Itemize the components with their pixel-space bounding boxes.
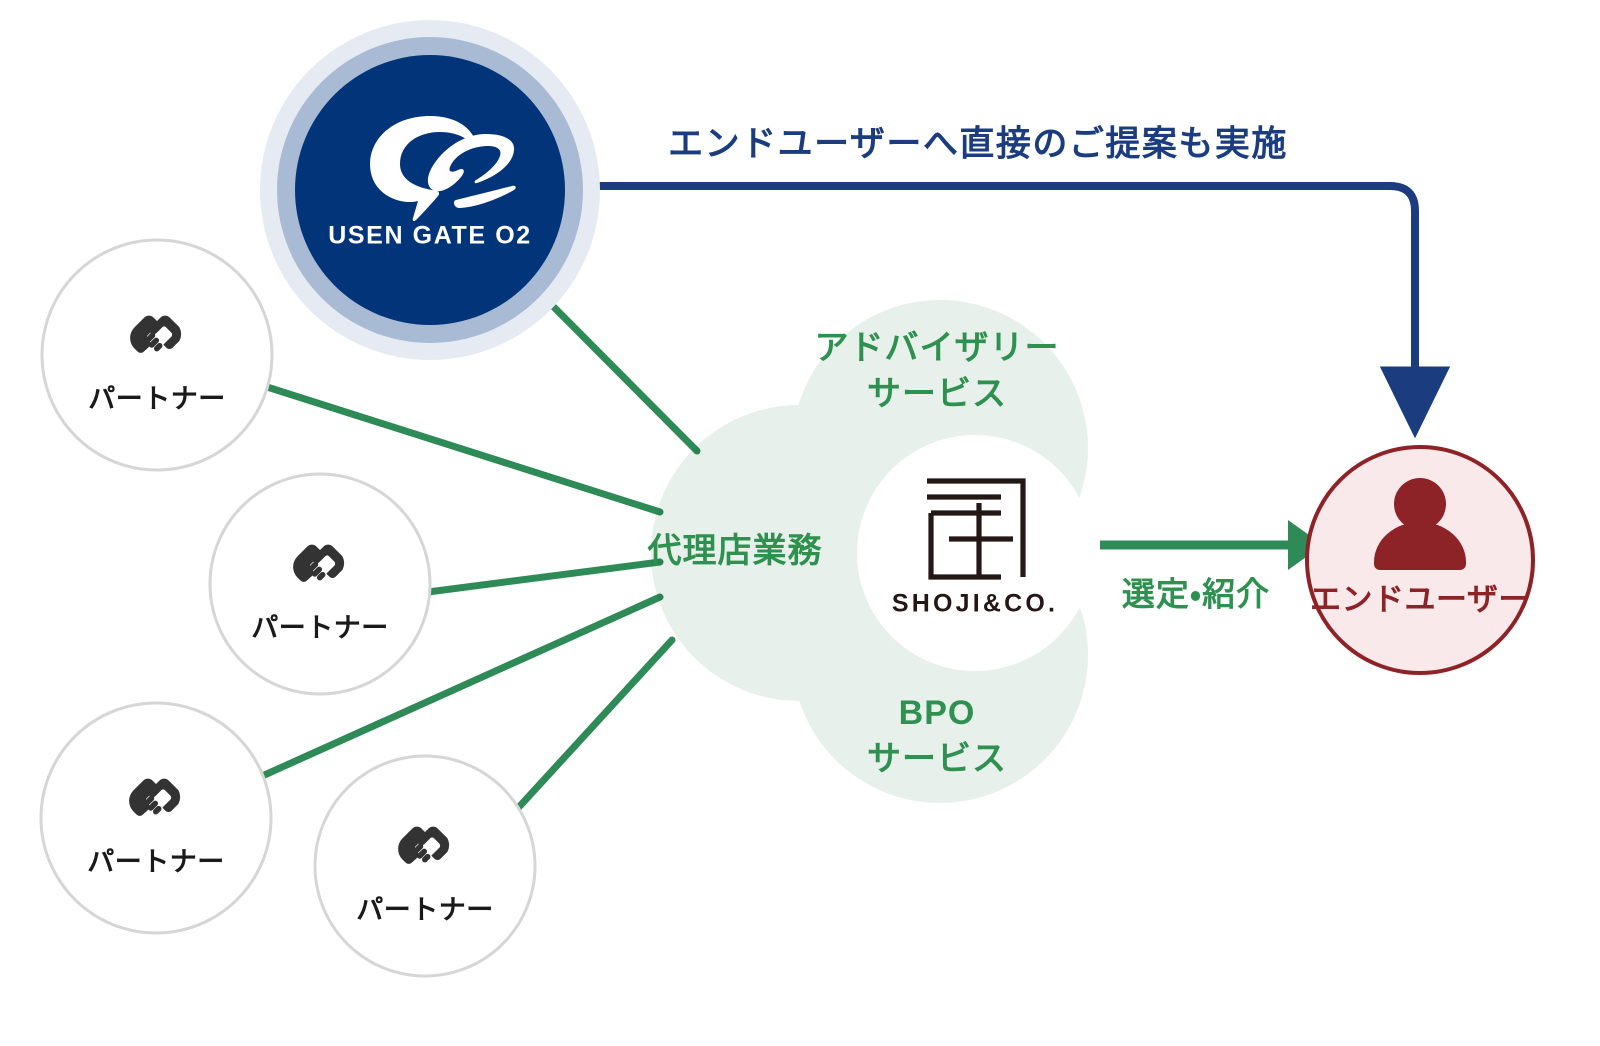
partner-label: パートナー [88,384,226,414]
partner-connector-line [519,640,672,807]
end-user-label: エンドユーザー [1310,582,1530,617]
partner-node[interactable]: パートナー [41,703,271,933]
shoji-and-co-node[interactable]: SHOJI&CO. [857,435,1093,671]
partner-node[interactable]: パートナー [315,756,535,976]
diagram-canvas: 代理店業務アドバイザリーサービスBPOサービス SHOJI&CO. 選定・紹介 … [0,0,1600,1046]
partner-circle-1 [42,240,272,470]
selection-flow-label: 選定・紹介 [1122,576,1270,613]
usen-gate-o2-wordmark: USEN GATE O2 [328,222,532,250]
direct-proposal-label: エンドユーザーへ直接のご提案も実施 [668,124,1288,163]
end-user-node[interactable]: エンドユーザー [1307,447,1533,673]
service-label-agency-business: 代理店業務 [647,532,823,570]
partner-label: パートナー [87,847,225,877]
usen-gate-o2-node[interactable]: USEN GATE O2 [260,20,600,360]
business-flow-diagram: 代理店業務アドバイザリーサービスBPOサービス SHOJI&CO. 選定・紹介 … [0,0,1600,1046]
partner-circle-2 [210,474,430,694]
partner-node[interactable]: パートナー [210,474,430,694]
shoji-and-co-circle [857,435,1093,671]
selection-flow-arrow [1100,520,1323,570]
partner-circle-3 [41,703,271,933]
partner-node[interactable]: パートナー [42,240,272,470]
partner-label: パートナー [251,613,389,643]
shoji-and-co-wordmark: SHOJI&CO. [892,590,1058,618]
partner-circle-4 [315,756,535,976]
partner-connector-line [428,562,660,592]
partner-label: パートナー [356,895,494,925]
